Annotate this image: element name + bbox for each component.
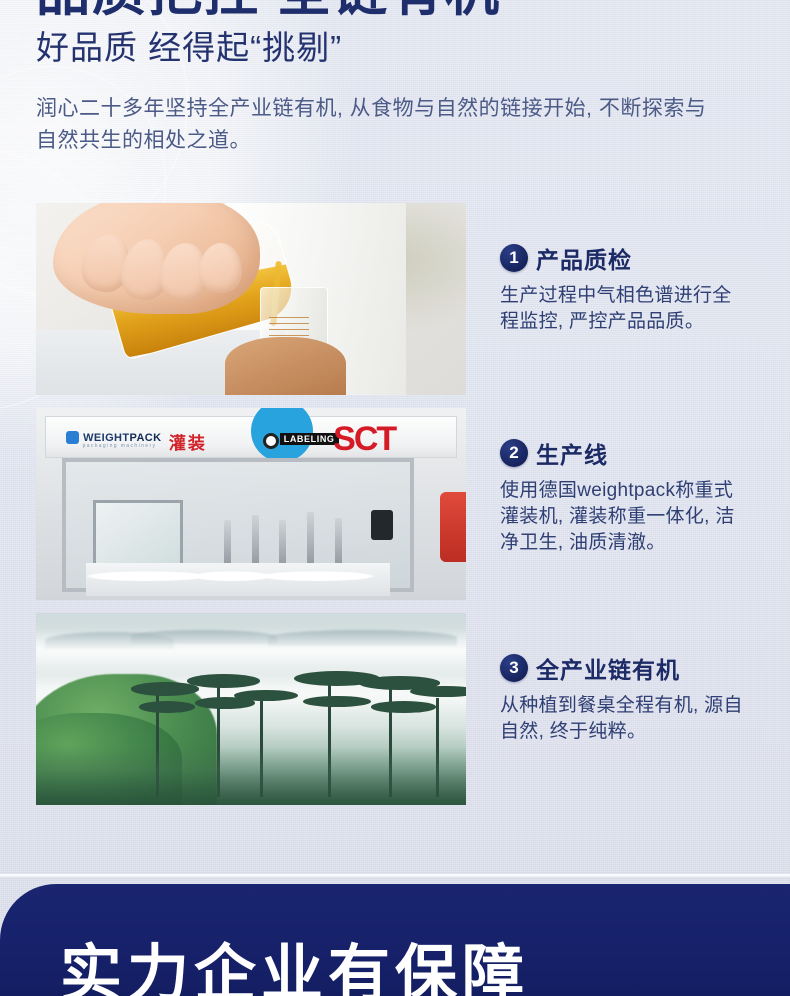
machine-header-panel: WEIGHTPACK packaging machinery 灌装 LABELI… bbox=[45, 416, 458, 458]
page-subheadline: 好品质 经得起“挑剔” bbox=[36, 28, 342, 68]
feature-row-production-line: WEIGHTPACK packaging machinery 灌装 LABELI… bbox=[36, 408, 754, 600]
feature-title-row: 3 全产业链有机 bbox=[500, 651, 750, 685]
feature-description: 生产过程中气相色谱进行全程监控, 严控产品品质。 bbox=[500, 283, 750, 335]
brand-pack-text: PACK bbox=[130, 432, 162, 444]
feature-number-badge: 1 bbox=[500, 244, 528, 272]
lab-photo-scene bbox=[36, 203, 466, 395]
pine-tree-canopy bbox=[187, 674, 260, 687]
weightpack-wordmark: WEIGHTPACK bbox=[83, 432, 161, 444]
machine-photo-scene: WEIGHTPACK packaging machinery 灌装 LABELI… bbox=[36, 408, 466, 600]
labeling-tag: LABELING bbox=[280, 433, 339, 445]
weightpack-mark-icon bbox=[66, 431, 79, 444]
page-headline-clipped: 品质把控 全链有机 bbox=[36, 0, 501, 21]
feature-title: 产品质检 bbox=[536, 241, 632, 275]
pine-tree-canopy bbox=[139, 701, 195, 713]
sct-logo-text: SCT bbox=[333, 422, 395, 456]
misty-forest-photo bbox=[36, 613, 466, 805]
door-hinge-shape bbox=[371, 510, 393, 540]
feature-row-quality-inspection: 1 产品质检 生产过程中气相色谱进行全程监控, 严控产品品质。 bbox=[36, 203, 754, 395]
brand-weight-text: WEIGHT bbox=[83, 432, 129, 444]
filling-nozzle bbox=[307, 512, 314, 570]
gear-icon bbox=[263, 433, 279, 449]
lab-oil-testing-photo bbox=[36, 203, 466, 395]
red-panel-shape bbox=[440, 492, 466, 561]
feature-row-organic-chain: 3 全产业链有机 从种植到餐桌全程有机, 源自自然, 终于纯粹。 bbox=[36, 613, 754, 805]
bottle-carousel-shape bbox=[86, 563, 389, 596]
feature-title: 生产线 bbox=[536, 436, 608, 470]
feature-title-row: 2 生产线 bbox=[500, 436, 750, 470]
pine-tree-canopy bbox=[131, 682, 200, 695]
machine-chinese-label: 灌装 bbox=[169, 429, 207, 454]
feature-number-badge: 3 bbox=[500, 654, 528, 682]
forearm-shape bbox=[225, 337, 345, 395]
banner-title: 实力企业有保障 bbox=[60, 944, 529, 996]
forest-photo-scene bbox=[36, 613, 466, 805]
weightpack-tagline: packaging machinery bbox=[83, 443, 157, 449]
intro-paragraph: 润心二十多年坚持全产业链有机, 从食物与自然的链接开始, 不断探索与自然共生的相… bbox=[36, 93, 708, 157]
bottom-banner: 实力企业有保障 bbox=[0, 884, 790, 996]
machine-frame-shape bbox=[62, 458, 415, 592]
feature-text-block: 2 生产线 使用德国weightpack称重式灌装机, 灌装称重一体化, 洁净卫… bbox=[500, 436, 750, 556]
pine-tree-canopy bbox=[371, 701, 436, 713]
pine-tree-canopy bbox=[303, 696, 372, 708]
feature-description: 使用德国weightpack称重式灌装机, 灌装称重一体化, 洁净卫生, 油质清… bbox=[500, 478, 750, 556]
ground-fog-layer bbox=[36, 747, 466, 805]
feature-number-badge: 2 bbox=[500, 439, 528, 467]
weightpack-logo: WEIGHTPACK bbox=[66, 431, 161, 444]
filling-line-photo: WEIGHTPACK packaging machinery 灌装 LABELI… bbox=[36, 408, 466, 600]
feature-text-block: 3 全产业链有机 从种植到餐桌全程有机, 源自自然, 终于纯粹。 bbox=[500, 651, 750, 745]
feature-description: 从种植到餐桌全程有机, 源自自然, 终于纯粹。 bbox=[500, 693, 750, 745]
feature-text-block: 1 产品质检 生产过程中气相色谱进行全程监控, 严控产品品质。 bbox=[500, 241, 750, 335]
feature-title: 全产业链有机 bbox=[536, 651, 680, 685]
feature-title-row: 1 产品质检 bbox=[500, 241, 750, 275]
product-detail-page: 品质把控 全链有机 好品质 经得起“挑剔” 润心二十多年坚持全产业链有机, 从食… bbox=[0, 0, 790, 996]
section-divider bbox=[0, 874, 790, 877]
